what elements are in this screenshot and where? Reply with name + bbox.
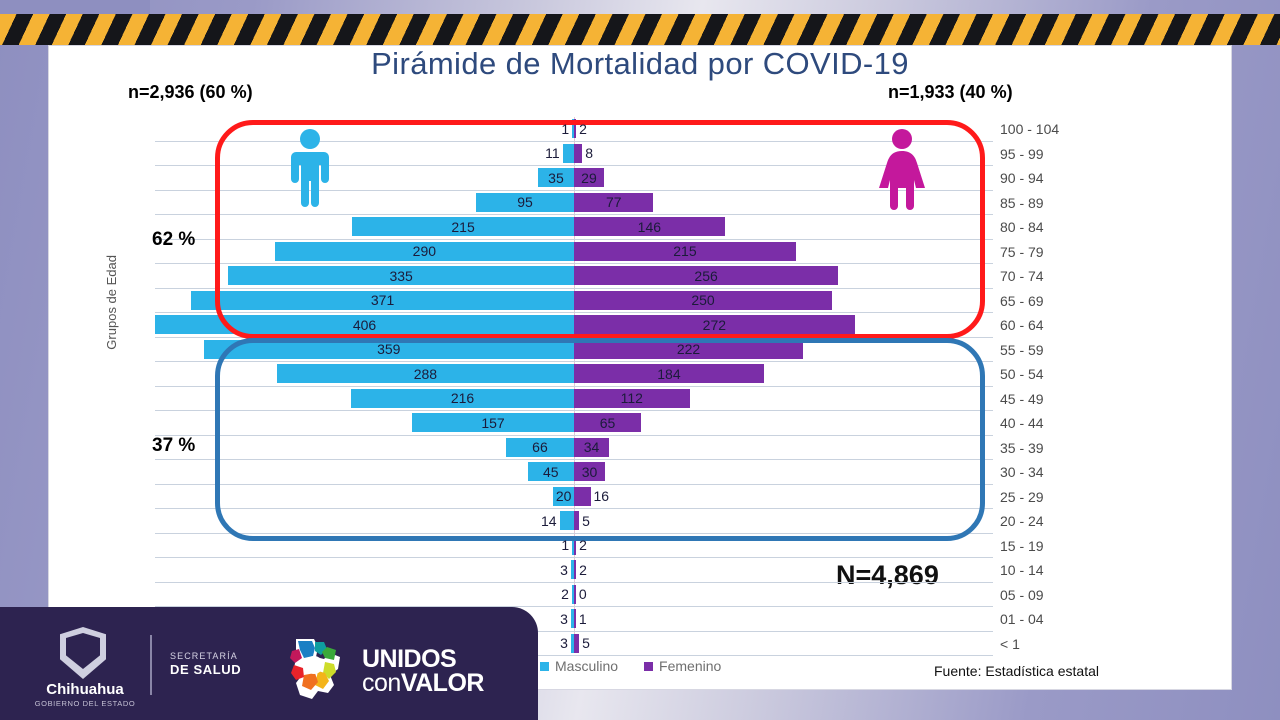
female-bar-value: 112 [619,390,645,406]
male-bar: 157 [412,413,574,432]
pyramid-row: 3529 [155,166,993,191]
female-bar-value: 29 [579,170,599,186]
male-bar: 288 [277,364,574,383]
pyramid-row: 145 [155,509,993,534]
age-group-label: 01 - 04 [1000,607,1120,632]
male-bar: 215 [352,217,574,236]
pyramid-plot: 1211835299577215146290215335256371250406… [155,117,993,653]
male-pictogram-icon [286,128,334,210]
female-bar-value: 222 [675,341,702,357]
male-bar: 20 [553,487,574,506]
male-cell: 20 [155,485,574,509]
pyramid-row: 406272 [155,313,993,338]
female-bar-value: 215 [671,243,698,259]
male-bar-value: 3 [558,635,571,651]
female-bar-value: 256 [692,268,719,284]
female-bar: 256 [574,266,838,285]
hazard-stripe-banner [0,14,1280,45]
legend-label-male: Masculino [555,658,618,674]
age-group-label: 15 - 19 [1000,534,1120,559]
female-cell: 1 [574,607,993,631]
lower-percent-annotation: 37 % [152,435,195,457]
male-bar-value: 216 [449,390,476,406]
age-group-label: 85 - 89 [1000,191,1120,216]
male-cell: 216 [155,387,574,411]
male-cell: 406 [155,313,574,337]
age-group-label: 50 - 54 [1000,362,1120,387]
upper-percent-annotation: 62 % [152,229,195,251]
female-bar: 2 [574,119,576,138]
male-cell: 1 [155,117,574,141]
female-cell: 16 [574,485,993,509]
chihuahua-map-icon [282,635,354,707]
female-bar: 5 [574,511,579,530]
male-cell: 359 [155,338,574,362]
age-group-label: 30 - 34 [1000,460,1120,485]
male-bar: 66 [506,438,574,457]
female-bar: 8 [574,144,582,163]
legend-label-female: Femenino [659,658,721,674]
pyramid-row: 4530 [155,460,993,485]
female-cell: 30 [574,460,993,484]
legend-item-male: Masculino [540,658,618,674]
age-group-label: < 1 [1000,632,1120,657]
female-bar: 16 [574,487,591,506]
female-cell: 215 [574,240,993,264]
male-bar-value: 1 [559,537,572,553]
age-group-label: 60 - 64 [1000,313,1120,338]
slogan-valor: VALOR [401,669,484,697]
male-bar-value: 290 [411,243,438,259]
male-total-label: n=2,936 (60 %) [128,82,253,103]
female-bar-value: 65 [598,415,618,431]
female-bar-value: 2 [576,537,589,553]
male-bar-value: 66 [530,439,550,455]
age-group-label: 55 - 59 [1000,338,1120,363]
y-axis-label: Grupos de Edad [104,255,126,350]
male-bar: 11 [563,144,574,163]
male-bar-value: 14 [539,513,560,529]
male-bar-value: 95 [515,194,535,210]
male-bar-value: 406 [351,317,378,333]
pyramid-row: 12 [155,117,993,142]
female-bar: 2 [574,560,576,579]
male-color-swatch [540,662,549,671]
female-cell: 146 [574,215,993,239]
pyramid-row: 216112 [155,387,993,412]
female-bar-value: 146 [636,219,663,235]
secretaria-line1: SECRETARÍA [170,651,238,661]
female-bar: 1 [574,609,576,628]
male-bar-value: 1 [559,121,572,137]
female-cell: 2 [574,117,993,141]
pyramid-row: 32 [155,558,993,583]
female-bar-value: 34 [582,439,602,455]
legend-item-female: Femenino [644,658,721,674]
female-cell: 2 [574,534,993,558]
female-cell: 5 [574,509,993,533]
age-group-label: 65 - 69 [1000,289,1120,314]
pyramid-row: 6634 [155,436,993,461]
female-cell: 256 [574,264,993,288]
age-group-label: 05 - 09 [1000,583,1120,608]
male-cell: 1 [155,534,574,558]
age-group-label: 10 - 14 [1000,558,1120,583]
female-bar: 272 [574,315,855,334]
male-cell: 14 [155,509,574,533]
male-cell: 45 [155,460,574,484]
male-bar-value: 3 [558,562,571,578]
male-cell: 3 [155,558,574,582]
slogan-line2: conVALOR [362,669,484,698]
male-cell: 2 [155,583,574,607]
female-cell: 222 [574,338,993,362]
female-bar: 222 [574,340,803,359]
male-cell: 288 [155,362,574,386]
male-cell: 371 [155,289,574,313]
male-bar-value: 3 [558,611,571,627]
female-bar-value: 1 [576,611,589,627]
female-color-swatch [644,662,653,671]
female-bar: 65 [574,413,641,432]
female-pictogram-icon [876,128,928,210]
female-cell: 250 [574,289,993,313]
female-bar: 77 [574,193,653,212]
secretaria-line2: DE SALUD [170,662,241,677]
age-group-label: 90 - 94 [1000,166,1120,191]
female-cell: 2 [574,558,993,582]
male-bar-value: 335 [387,268,414,284]
female-bar-value: 77 [604,194,624,210]
male-cell: 95 [155,191,574,215]
female-cell: 0 [574,583,993,607]
female-bar-value: 250 [689,292,716,308]
male-cell: 290 [155,240,574,264]
pyramid-row: 2016 [155,485,993,510]
age-group-label: 80 - 84 [1000,215,1120,240]
male-bar: 95 [476,193,574,212]
female-bar: 30 [574,462,605,481]
female-bar-value: 16 [591,488,612,504]
pyramid-row: 9577 [155,191,993,216]
male-bar-value: 35 [546,170,566,186]
female-bar: 215 [574,242,796,261]
female-cell: 272 [574,313,993,337]
male-bar: 14 [560,511,574,530]
female-cell: 5 [574,632,993,656]
page-title: Pirámide de Mortalidad por COVID-19 [0,46,1280,82]
female-bar: 34 [574,438,609,457]
male-bar: 359 [204,340,574,359]
female-bar-value: 2 [576,562,589,578]
state-name: Chihuahua [38,681,132,698]
female-bar-value: 2 [576,121,589,137]
pyramid-row: 20 [155,583,993,608]
female-bar: 2 [574,536,576,555]
male-bar-value: 11 [543,145,563,161]
age-group-label: 100 - 104 [1000,117,1120,142]
female-bar-value: 5 [579,513,592,529]
female-cell: 34 [574,436,993,460]
slogan-con: con [362,669,401,697]
male-bar: 35 [538,168,574,187]
age-group-label: 40 - 44 [1000,411,1120,436]
female-cell: 8 [574,142,993,166]
male-cell: 215 [155,215,574,239]
female-bar: 5 [574,634,579,653]
female-bar-value: 30 [580,464,600,480]
age-group-label: 25 - 29 [1000,485,1120,510]
age-group-axis: 100 - 10495 - 9990 - 9485 - 8980 - 8475 … [1000,117,1120,653]
female-cell: 112 [574,387,993,411]
age-group-label: 95 - 99 [1000,142,1120,167]
male-bar: 371 [191,291,574,310]
male-cell: 66 [155,436,574,460]
female-cell: 77 [574,191,993,215]
male-bar-value: 215 [449,219,476,235]
male-bar-value: 20 [554,488,574,504]
age-group-label: 75 - 79 [1000,240,1120,265]
shield-inner [66,633,100,669]
pyramid-row: 288184 [155,362,993,387]
source-note: Fuente: Estadística estatal [934,663,1099,679]
pyramid-row: 215146 [155,215,993,240]
male-bar: 290 [275,242,574,261]
female-cell: 29 [574,166,993,190]
chihuahua-shield-icon [60,627,106,679]
pyramid-row: 290215 [155,240,993,265]
female-bar-value: 0 [576,586,589,602]
age-group-label: 20 - 24 [1000,509,1120,534]
female-bar: 250 [574,291,832,310]
pyramid-row: 118 [155,142,993,167]
female-bar-value: 184 [655,366,682,382]
female-bar-value: 272 [701,317,728,333]
female-cell: 65 [574,411,993,435]
male-bar: 406 [155,315,574,334]
male-bar-value: 45 [541,464,561,480]
male-cell: 11 [155,142,574,166]
age-group-label: 45 - 49 [1000,387,1120,412]
footer-divider [150,635,152,695]
female-bar: 0 [574,585,576,604]
male-bar: 45 [528,462,574,481]
age-group-label: 35 - 39 [1000,436,1120,461]
pyramid-row: 371250 [155,289,993,314]
pyramid-row: 15765 [155,411,993,436]
female-bar: 112 [574,389,690,408]
side-band [0,0,150,14]
male-bar-value: 157 [479,415,506,431]
male-bar-value: 2 [559,586,572,602]
female-bar-value: 8 [582,145,595,161]
male-cell: 335 [155,264,574,288]
male-cell: 157 [155,411,574,435]
female-bar: 146 [574,217,725,236]
pyramid-row: 359222 [155,338,993,363]
pyramid-row: 335256 [155,264,993,289]
footer-bar: Chihuahua GOBIERNO DEL ESTADO SECRETARÍA… [0,607,538,720]
age-group-label: 70 - 74 [1000,264,1120,289]
male-bar-value: 371 [369,292,396,308]
female-bar: 29 [574,168,604,187]
male-bar: 216 [351,389,574,408]
female-total-label: n=1,933 (40 %) [888,82,1013,103]
state-subtitle: GOBIERNO DEL ESTADO [30,699,140,708]
male-bar-value: 359 [375,341,402,357]
chart-legend: Masculino Femenino [540,658,721,674]
male-cell: 35 [155,166,574,190]
male-bar: 335 [228,266,574,285]
female-bar-value: 5 [579,635,592,651]
male-bar-value: 288 [412,366,439,382]
female-bar: 184 [574,364,764,383]
pyramid-row: 12 [155,534,993,559]
female-cell: 184 [574,362,993,386]
